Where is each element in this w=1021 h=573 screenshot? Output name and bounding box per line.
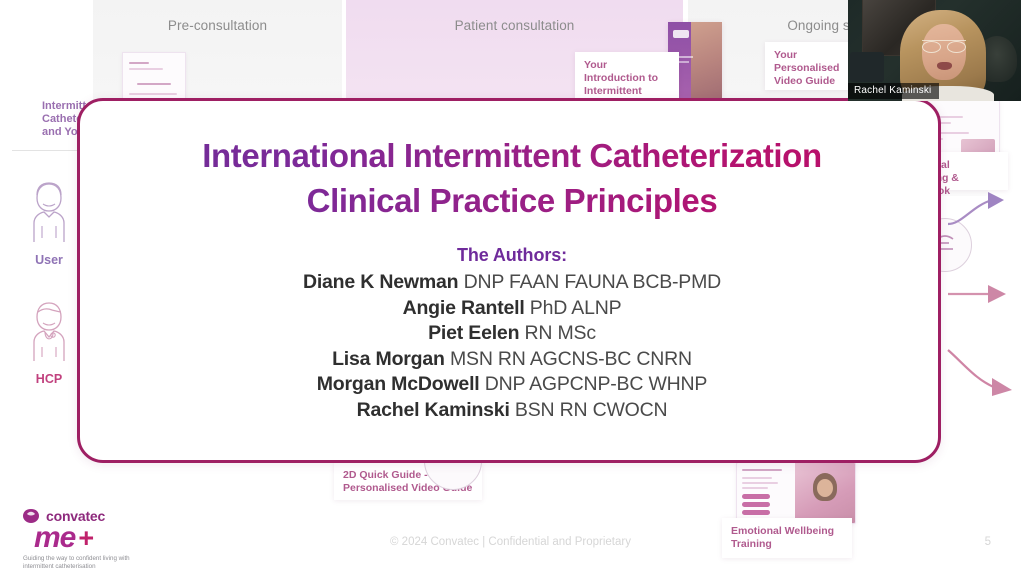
asset-card-intro-to-ic: Your Introduction to Intermittent Cathet… bbox=[575, 52, 679, 104]
authors-block: The Authors: Diane K Newman DNP FAAN FAU… bbox=[120, 245, 904, 423]
webcam-person-mouth bbox=[937, 62, 952, 70]
author-credentials: RN MSc bbox=[525, 322, 596, 344]
logo-tagline: Guiding the way to confident living with… bbox=[14, 552, 153, 571]
slide-page-number: 5 bbox=[985, 536, 991, 548]
asset-card-personalised-video-guide: Your Personalised Video Guide bbox=[765, 42, 857, 90]
author-credentials: DNP FAAN FAUNA BCB-PMD bbox=[464, 271, 721, 293]
author-name: Piet Eelen bbox=[428, 322, 519, 344]
title-card-overlay: International Intermittent Catheterizati… bbox=[77, 98, 941, 463]
flow-arrow-icon bbox=[946, 282, 1016, 306]
doc-thumbnail bbox=[736, 462, 856, 524]
author-name: Morgan McDowell bbox=[317, 373, 480, 395]
journey-panel-title: Pre-consultation bbox=[93, 18, 342, 33]
presentation-slide-stage: Pre-consultation Patient consultation On… bbox=[0, 0, 1021, 573]
webcam-participant-name: Rachel Kaminski bbox=[848, 83, 939, 99]
author-row: Morgan McDowell DNP AGPCNP-BC WHNP bbox=[120, 372, 904, 398]
title-line-1: International Intermittent Catheterizati… bbox=[202, 137, 821, 174]
author-name: Rachel Kaminski bbox=[357, 399, 510, 421]
divider bbox=[12, 150, 86, 151]
author-name: Angie Rantell bbox=[403, 297, 525, 319]
page-title: International Intermittent Catheterizati… bbox=[120, 133, 904, 223]
flow-arrow-icon bbox=[946, 190, 1016, 230]
author-row: Angie Rantell PhD ALNP bbox=[120, 296, 904, 322]
author-credentials: BSN RN CWOCN bbox=[515, 399, 668, 421]
journey-panel-title: Patient consultation bbox=[346, 18, 683, 33]
author-row: Rachel Kaminski BSN RN CWOCN bbox=[120, 398, 904, 424]
webcam-video-overlay[interactable]: Rachel Kaminski bbox=[848, 0, 1021, 101]
glasses-icon bbox=[922, 40, 966, 52]
author-name: Lisa Morgan bbox=[332, 348, 445, 370]
author-row: Diane K Newman DNP FAAN FAUNA BCB-PMD bbox=[120, 270, 904, 296]
title-line-2: Clinical Practice Principles bbox=[307, 182, 718, 219]
author-name: Diane K Newman bbox=[303, 271, 458, 293]
person-hcp-icon bbox=[20, 297, 78, 363]
author-row: Piet Eelen RN MSc bbox=[120, 321, 904, 347]
authors-heading: The Authors: bbox=[120, 245, 904, 266]
author-row: Lisa Morgan MSN RN AGCNS-BC CNRN bbox=[120, 347, 904, 373]
person-user-icon bbox=[20, 178, 78, 244]
flow-arrow-icon bbox=[946, 346, 1021, 402]
slide-copyright: © 2024 Convatec | Confidential and Propr… bbox=[0, 536, 1021, 548]
author-credentials: PhD ALNP bbox=[530, 297, 622, 319]
author-credentials: MSN RN AGCNS-BC CNRN bbox=[450, 348, 692, 370]
webcam-lamp bbox=[850, 52, 884, 82]
author-credentials: DNP AGPCNP-BC WHNP bbox=[485, 373, 708, 395]
